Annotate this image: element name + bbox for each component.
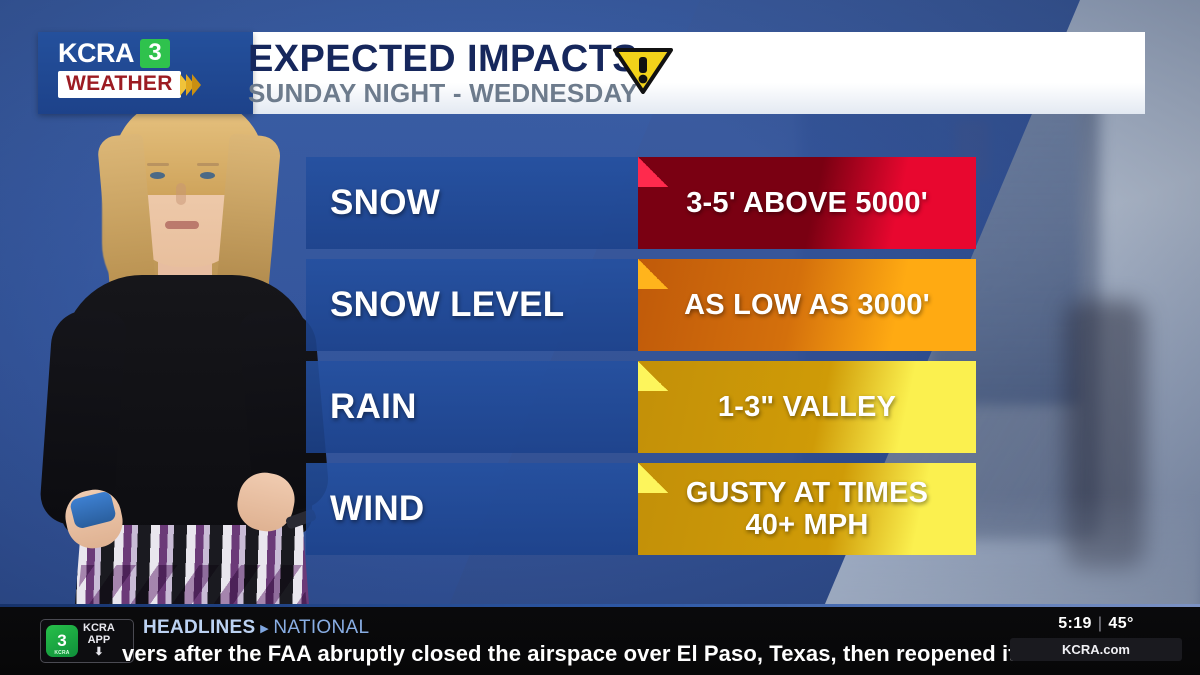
time-temperature: 5:19|45° (1010, 615, 1182, 633)
ticker-right-panel: 5:19|45° KCRA.com (1010, 615, 1182, 661)
ticker-top-accent (0, 604, 1200, 607)
row-label: SNOW LEVEL (330, 259, 564, 351)
broadcast-screenshot: KCRA 3 WEATHER EXPECTED IMPACTS SUNDAY N… (0, 0, 1200, 675)
news-ticker: 3 KCRA KCRA APP ⬇ HEADLINES▸NATIONAL ver… (0, 605, 1200, 675)
row-label: SNOW (330, 157, 440, 249)
table-row: SNOW LEVEL AS LOW AS 3000' (306, 259, 976, 351)
row-label: WIND (330, 463, 425, 555)
page-subtitle: SUNDAY NIGHT - WEDNESDAY (248, 80, 638, 106)
kcra-app-icon: 3 KCRA (46, 625, 78, 657)
nose (176, 183, 186, 205)
app-badge-text: KCRA APP ⬇ (83, 623, 115, 659)
eye-right (200, 172, 215, 179)
download-icon: ⬇ (83, 647, 115, 659)
meteorologist (10, 95, 350, 620)
row-label: RAIN (330, 361, 417, 453)
app-badge-line1: KCRA (83, 622, 115, 634)
ticker-crawl-text: vers after the FAA abruptly closed the a… (122, 641, 1022, 671)
ticker-category-main: HEADLINES (143, 617, 256, 638)
row-value-line2: 40+ MPH (745, 509, 868, 541)
logo-kcra-text: KCRA (58, 38, 134, 69)
app-icon-number: 3 (57, 631, 66, 651)
row-value: GUSTY AT TIMES 40+ MPH (638, 463, 976, 555)
eyebrow-left (147, 163, 169, 166)
row-value-line1: 1-3" VALLEY (718, 391, 896, 423)
row-value-line1: AS LOW AS 3000' (684, 289, 930, 321)
kcra-weather-logo: KCRA 3 WEATHER (58, 38, 218, 106)
double-chevron-right-icon (183, 74, 201, 96)
eyebrow-right (197, 163, 219, 166)
row-value: AS LOW AS 3000' (638, 259, 976, 351)
impacts-table: SNOW 3-5' ABOVE 5000' SNOW LEVEL AS LOW … (306, 157, 976, 565)
row-value: 3-5' ABOVE 5000' (638, 157, 976, 249)
app-icon-subtext: KCRA (46, 650, 78, 656)
ticker-category: HEADLINES▸NATIONAL (143, 617, 369, 639)
mouth (165, 221, 199, 229)
ticker-arrow-icon: ▸ (261, 620, 269, 637)
table-row: SNOW 3-5' ABOVE 5000' (306, 157, 976, 249)
website-button[interactable]: KCRA.com (1010, 638, 1182, 661)
logo-channel-number: 3 (140, 39, 170, 68)
separator: | (1098, 615, 1103, 632)
kcra-app-badge[interactable]: 3 KCRA KCRA APP ⬇ (40, 619, 134, 663)
clock-time: 5:19 (1058, 615, 1092, 632)
eye-left (150, 172, 165, 179)
row-value: 1-3" VALLEY (638, 361, 976, 453)
row-value-line1: 3-5' ABOVE 5000' (686, 187, 928, 219)
app-badge-line2: APP (88, 634, 111, 646)
table-row: RAIN 1-3" VALLEY (306, 361, 976, 453)
row-value-line1: GUSTY AT TIMES (686, 477, 928, 509)
temperature-value: 45° (1108, 615, 1133, 632)
ticker-category-sub: NATIONAL (273, 617, 369, 638)
warning-triangle-icon (612, 46, 674, 94)
page-title: EXPECTED IMPACTS (248, 40, 638, 78)
logo-weather-text: WEATHER (58, 71, 181, 98)
table-row: WIND GUSTY AT TIMES 40+ MPH (306, 463, 976, 555)
